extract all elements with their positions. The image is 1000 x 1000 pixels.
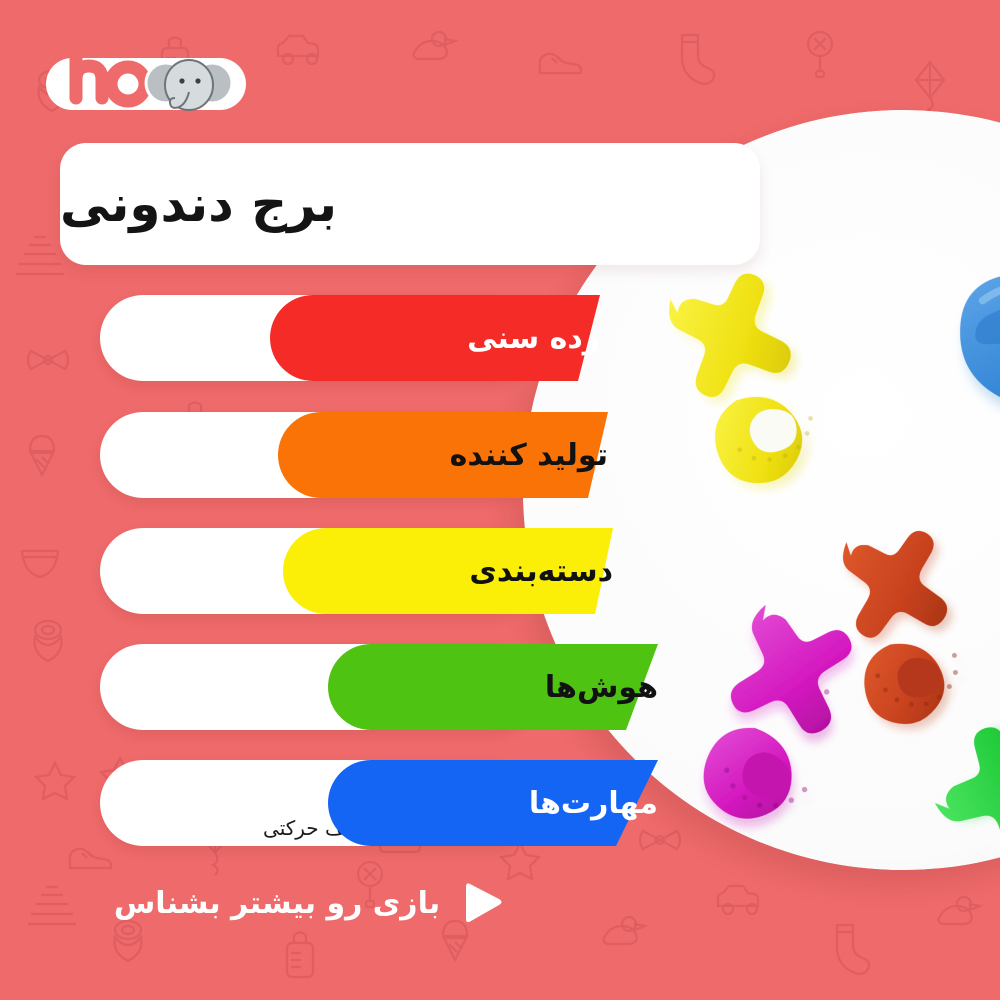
title-card: برج دندونی: [60, 143, 760, 265]
label-flag-manufacturer: تولید کننده: [278, 412, 608, 498]
elephant-icon: [146, 60, 232, 110]
label-flag-skills: مهارت‌ها: [328, 760, 658, 846]
page-title: برج دندونی: [60, 143, 580, 265]
cta-button[interactable]: بازی رو بیشتر بشناس: [0, 872, 620, 934]
play-arrow-icon[interactable]: [462, 880, 506, 926]
label-intelligences: هوش‌ها: [328, 644, 658, 730]
brand-logo[interactable]: [42, 36, 250, 118]
label-flag-intelligences: هوش‌ها: [328, 644, 658, 730]
label-skills: مهارت‌ها: [328, 760, 658, 846]
poster-canvas: برج دندونی ۶ ماه تا ۷ سال رده سنی سنجاقک…: [0, 0, 1000, 1000]
label-age-range: رده سنی: [270, 295, 600, 381]
label-manufacturer: تولید کننده: [278, 412, 608, 498]
label-flag-category: دسته‌بندی: [283, 528, 613, 614]
label-category: دسته‌بندی: [283, 528, 613, 614]
label-flag-age-range: رده سنی: [270, 295, 600, 381]
cta-label: بازی رو بیشتر بشناس: [114, 886, 440, 921]
